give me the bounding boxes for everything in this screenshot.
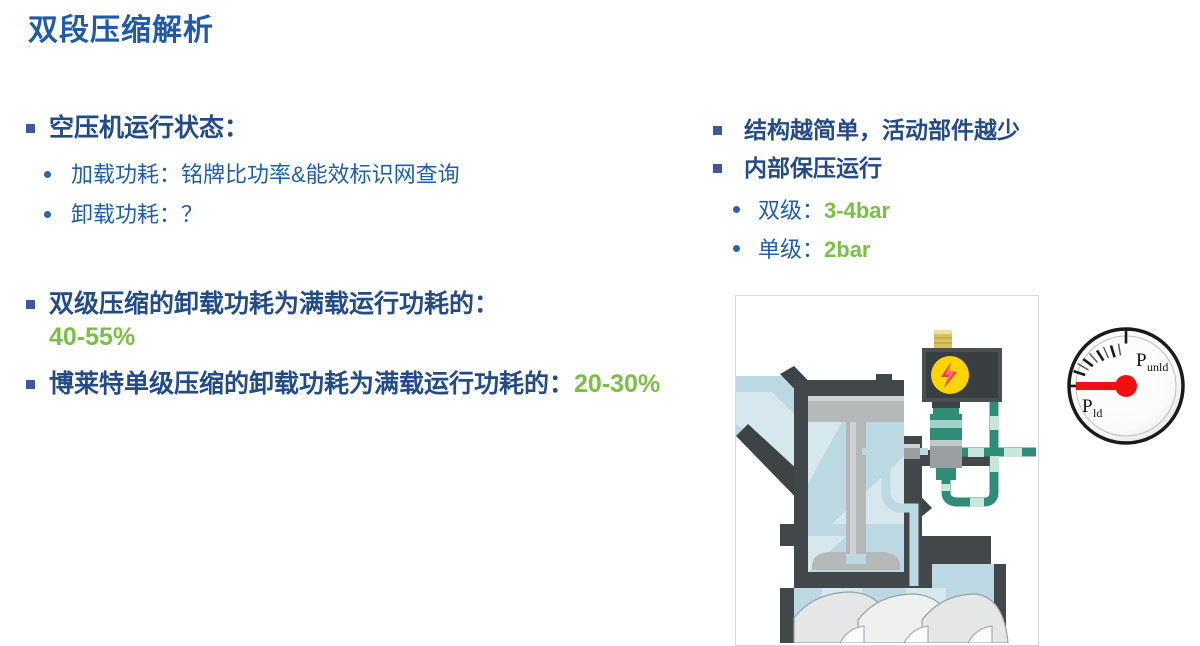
dot-bullet-icon: [44, 171, 51, 178]
square-bullet-icon: [26, 124, 35, 133]
bullet-row-right-1: 结构越简单，活动部件越少: [713, 115, 1153, 145]
bullet-text: 内部保压运行: [744, 153, 882, 183]
dot-bullet-icon: [733, 245, 740, 252]
bullet-row-left-3: 卸载功耗：？: [44, 200, 664, 229]
gauge-label-unload-sub: unld: [1147, 360, 1168, 374]
square-bullet-icon: [26, 300, 35, 309]
bullet-text: 卸载功耗：？: [71, 200, 203, 229]
bullet-row-right-2: 内部保压运行: [713, 153, 1153, 183]
dot-bullet-icon: [44, 211, 51, 218]
pressure-value: 3-4bar: [824, 198, 890, 223]
pressure-label: 单级：: [758, 237, 824, 262]
square-bullet-icon: [713, 164, 722, 173]
bullet-text: 加载功耗：铭牌比功率&能效标识网查询: [71, 160, 460, 189]
pressure-gauge-image: P unld P ld: [1062, 322, 1190, 450]
pressure-label: 双级：: [758, 198, 824, 223]
statement-text: 博莱特单级压缩的卸载功耗为满载运行功耗的：20-30%: [49, 368, 660, 401]
gauge-label-load: P: [1082, 396, 1093, 417]
bullet-text: 空压机运行状态：: [49, 112, 249, 145]
statement-lead: 双级压缩的卸载功耗为满载运行功耗的：: [49, 290, 499, 318]
screw-rotors: [780, 588, 1008, 643]
square-bullet-icon: [26, 380, 35, 389]
statement-row-1: 双级压缩的卸载功耗为满载运行功耗的： 40-55%: [26, 288, 686, 354]
statement-text: 双级压缩的卸载功耗为满载运行功耗的： 40-55%: [49, 288, 499, 354]
dot-bullet-icon: [733, 206, 740, 213]
bullet-text: 结构越简单，活动部件越少: [744, 115, 1020, 145]
slide-root: 双段压缩解析 空压机运行状态： 加载功耗：铭牌比功率&能效标识网查询 卸载功耗：…: [0, 0, 1200, 644]
bullet-row-left-2: 加载功耗：铭牌比功率&能效标识网查询: [44, 160, 664, 189]
pressure-value: 2bar: [824, 237, 870, 262]
pressure-text: 双级：3-4bar: [758, 196, 890, 225]
pressure-row-single-stage: 单级：2bar: [733, 235, 1163, 264]
pressure-text: 单级：2bar: [758, 235, 871, 264]
statement-value: 40-55%: [49, 323, 135, 351]
gauge-label-unload: P: [1136, 350, 1147, 371]
statement-row-2: 博莱特单级压缩的卸载功耗为满载运行功耗的：20-30%: [26, 368, 716, 401]
statement-value: 20-30%: [574, 370, 660, 398]
bullet-row-left-1: 空压机运行状态：: [26, 112, 666, 145]
compressor-diagram-image: [735, 295, 1039, 646]
pressure-row-dual-stage: 双级：3-4bar: [733, 196, 1163, 225]
square-bullet-icon: [713, 126, 722, 135]
statement-lead: 博莱特单级压缩的卸载功耗为满载运行功耗的：: [49, 370, 574, 398]
gauge-label-load-sub: ld: [1093, 406, 1102, 420]
page-title: 双段压缩解析: [28, 14, 214, 47]
